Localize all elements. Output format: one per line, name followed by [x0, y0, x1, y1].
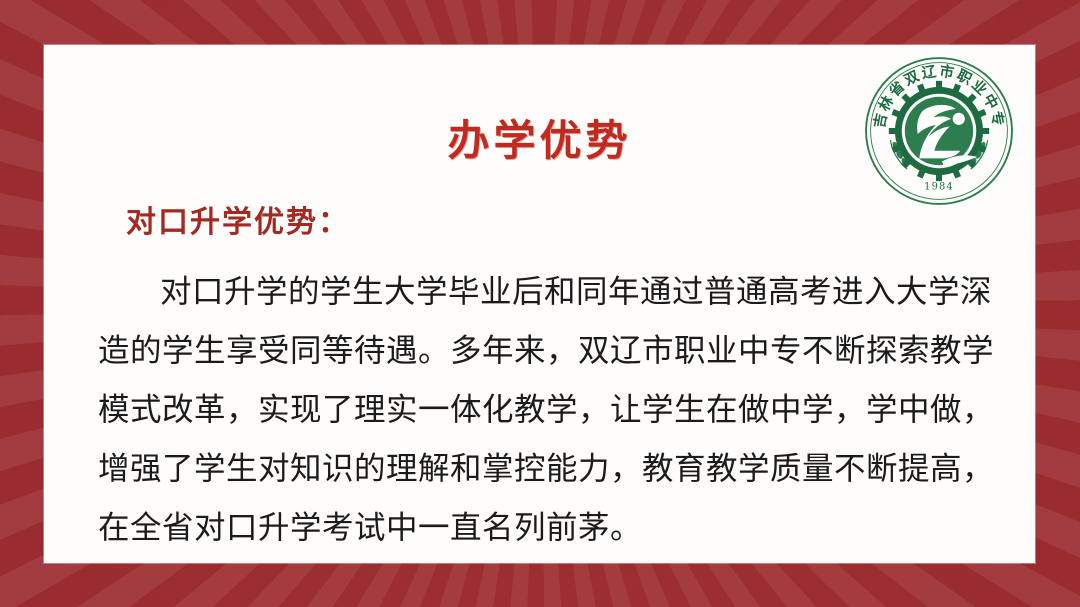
content-card: 吉林省双辽市职业中专 JILIN PROVINCE SHUANGLIAO CIT…	[44, 45, 1035, 563]
body-line: 在全省对口升学考试中一直名列前茅。	[98, 499, 1033, 558]
page-title: 办学优势	[44, 107, 1035, 168]
slide-canvas: 吉林省双辽市职业中专 JILIN PROVINCE SHUANGLIAO CIT…	[0, 0, 1080, 607]
body-line: 模式改革，实现了理实一体化教学，让学生在做中学，学中做，	[98, 381, 1033, 440]
section-subtitle: 对口升学优势：	[126, 197, 350, 241]
body-line: 造的学生享受同等待遇。多年来，双辽市职业中专不断探索教学	[98, 322, 1033, 381]
body-line: 增强了学生对知识的理解和掌控能力，教育教学质量不断提高，	[98, 440, 1033, 499]
svg-text:1984: 1984	[924, 182, 954, 193]
body-line: 对口升学的学生大学毕业后和同年通过普通高考进入大学深	[98, 263, 1033, 322]
body-paragraph: 对口升学的学生大学毕业后和同年通过普通高考进入大学深 造的学生享受同等待遇。多年…	[98, 263, 1033, 558]
